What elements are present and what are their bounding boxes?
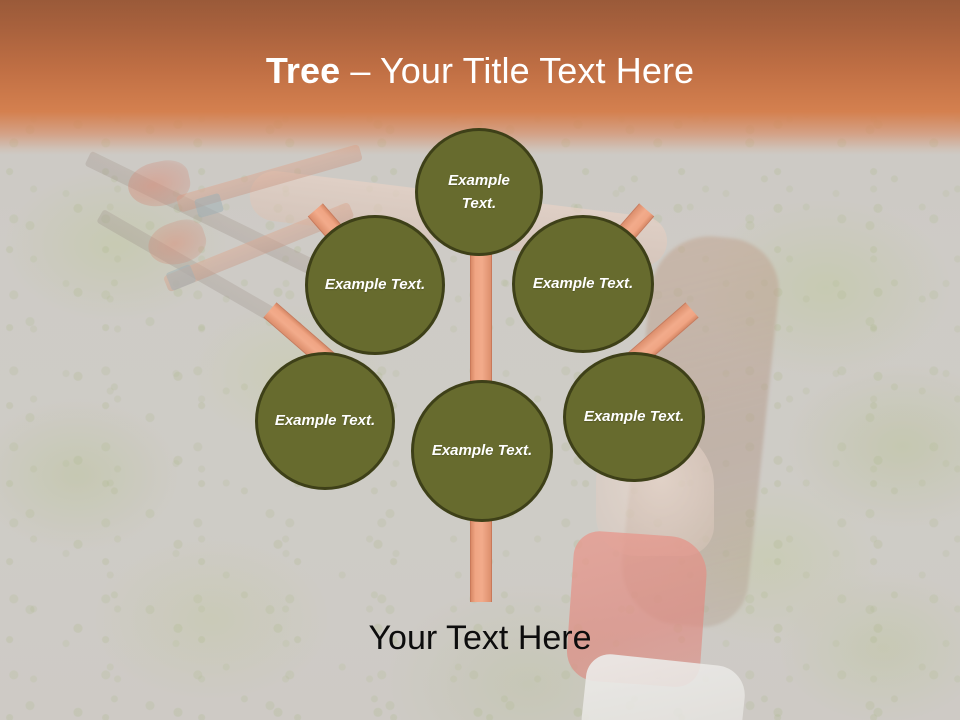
- bottom-caption: Your Text Here: [0, 618, 960, 659]
- tree-node-lower-left-label: Example Text.: [261, 409, 389, 432]
- tree-node-upper-right[interactable]: Example Text.: [512, 215, 654, 353]
- tree-node-top[interactable]: Example Text.: [415, 128, 543, 256]
- tree-node-top-label: Example Text.: [418, 169, 540, 216]
- tree-node-lower-right[interactable]: Example Text.: [563, 352, 705, 482]
- tree-node-lower-center-label: Example Text.: [418, 439, 546, 462]
- tree-node-lower-left[interactable]: Example Text.: [255, 352, 395, 490]
- tree-node-upper-right-label: Example Text.: [519, 272, 647, 295]
- tree-node-upper-left[interactable]: Example Text.: [305, 215, 445, 355]
- tree-node-upper-left-label: Example Text.: [311, 273, 439, 296]
- tree-node-lower-center[interactable]: Example Text.: [411, 380, 553, 522]
- tree-diagram: Example Text. Example Text. Example Text…: [0, 0, 960, 720]
- tree-node-lower-right-label: Example Text.: [570, 405, 698, 428]
- slide: Tree – Your Title Text Here Example Text…: [0, 0, 960, 720]
